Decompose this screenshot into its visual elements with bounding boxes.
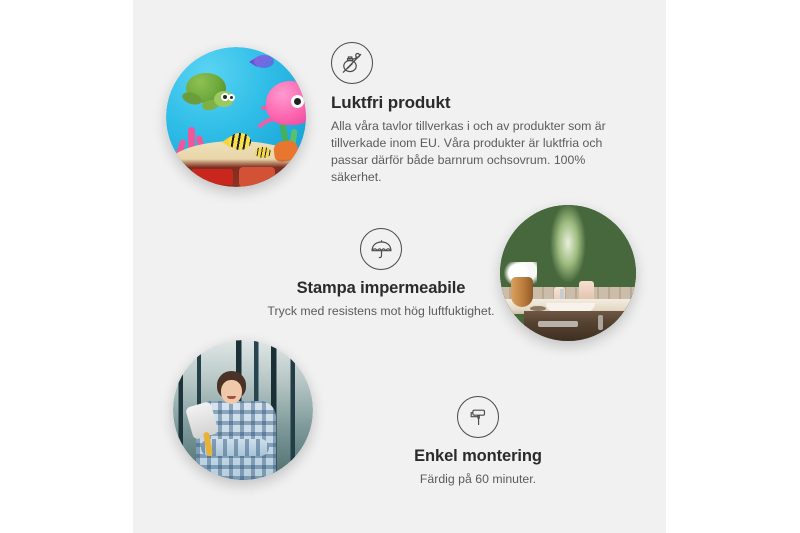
face: [221, 380, 242, 404]
umbrella-icon: [360, 228, 402, 270]
yellow-fish-illustration: [224, 133, 252, 151]
feature-waterproof-icon-wrap: [211, 228, 551, 270]
octopus-illustration: [252, 81, 306, 143]
content-panel: Luktfri produkt Alla våra tavlor tillver…: [133, 0, 666, 533]
no-perfume-icon: [331, 42, 373, 84]
photo-painter-inner: [173, 340, 313, 480]
feature-easy-icon-wrap: [348, 396, 608, 438]
product-photo-underwater: [166, 47, 306, 187]
feature-odorless: Luktfri produkt Alla våra tavlor tillver…: [331, 42, 631, 186]
feature-waterproof-title: Stampa impermeabile: [211, 279, 551, 298]
feature-waterproof-description: Tryck med resistens mot hög luftfuktighe…: [211, 303, 551, 320]
feature-odorless-title: Luktfri produkt: [331, 93, 631, 113]
turtle-illustration: [180, 73, 236, 113]
feature-easy-description: Färdig på 60 minuter.: [348, 471, 608, 488]
page-root: Luktfri produkt Alla våra tavlor tillver…: [0, 0, 800, 533]
feature-odorless-icon-wrap: [331, 42, 631, 84]
feature-easy-mounting: Enkel montering Färdig på 60 minuter.: [348, 396, 608, 488]
paint-roller-icon: [457, 396, 499, 438]
room-strip: [166, 159, 306, 187]
small-fish-illustration: [252, 147, 272, 159]
feature-odorless-description: Alla våra tavlor tillverkas i och av pro…: [331, 118, 631, 186]
painter-woman: [193, 371, 280, 480]
feature-waterproof: Stampa impermeabile Tryck med resistens …: [211, 228, 551, 320]
feature-easy-title: Enkel montering: [348, 447, 608, 466]
product-photo-painter: [173, 340, 313, 480]
photo-underwater-inner: [166, 47, 306, 187]
blue-fish-illustration: [250, 55, 276, 69]
